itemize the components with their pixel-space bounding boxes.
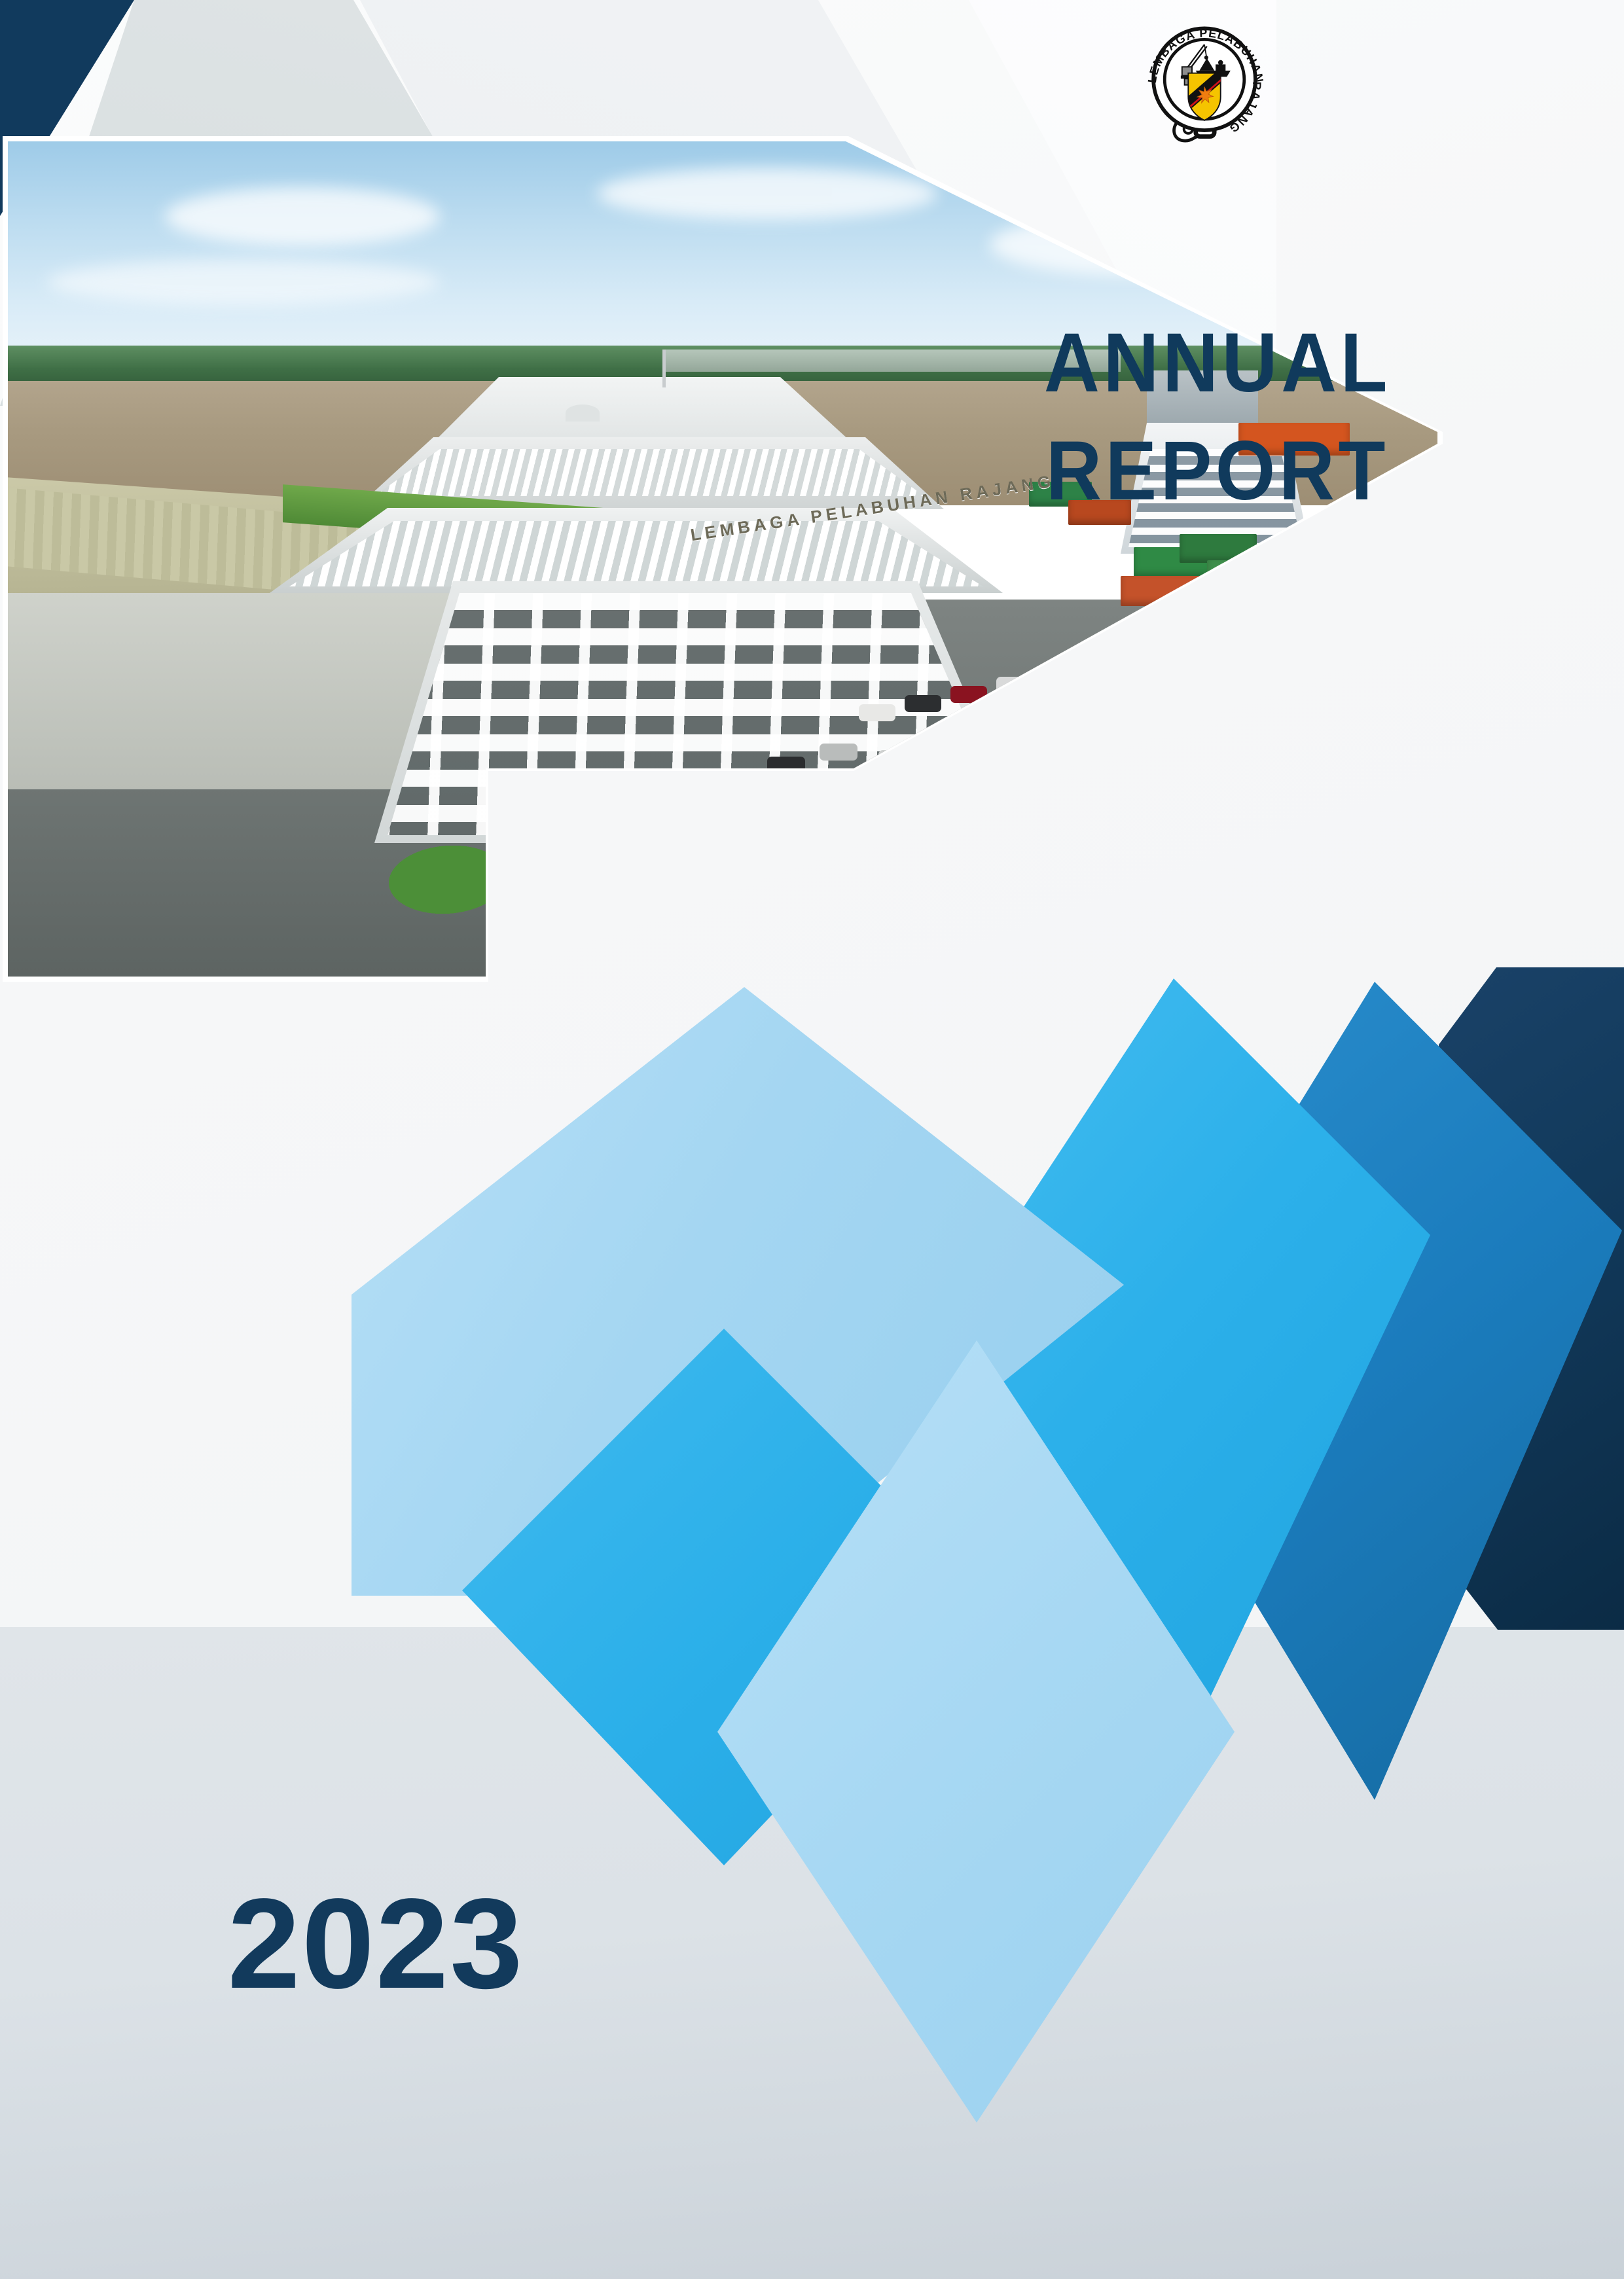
photo-car — [820, 744, 857, 761]
title-line-annual: ANNUAL — [1001, 321, 1434, 406]
photo-cloud — [47, 259, 440, 305]
annual-report-cover: LEMBAGA PELABUHAN RAJANG — [0, 0, 1624, 2279]
photo-car — [905, 695, 941, 712]
page-title: ANNUAL REPORT — [982, 321, 1453, 514]
report-year: 2023 — [228, 1880, 524, 2008]
photo-cloud — [165, 187, 440, 246]
photo-cloud — [597, 168, 937, 220]
photo-hq-dish — [566, 404, 600, 422]
title-line-report: REPORT — [1001, 429, 1434, 514]
photo-hq-mast — [662, 350, 666, 387]
photo-hq-louvers-lower — [289, 521, 983, 586]
photo-hq-louvers-upper — [374, 449, 924, 496]
lembaga-pelabuhan-rajang-logo: LEMBAGA PELABUHAN RAJANG — [1142, 20, 1267, 144]
photo-car — [859, 704, 895, 721]
